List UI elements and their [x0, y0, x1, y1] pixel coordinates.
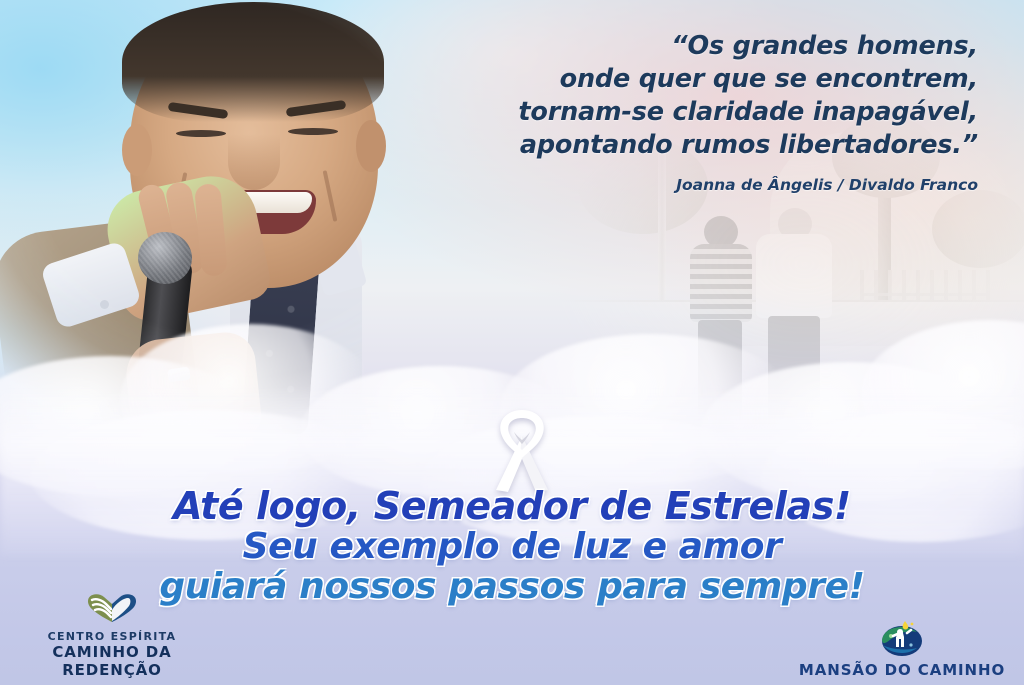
portrait-nose	[228, 134, 280, 190]
background-palm-crown	[932, 190, 1024, 268]
quote-line-2: onde quer que se encontrem,	[418, 63, 978, 96]
tribute-message-line-2: Seu exemplo de luz e amor	[0, 527, 1024, 567]
logo-left-line-2: CAMINHO DA REDENÇÃO	[12, 643, 212, 679]
logo-left-line-1: CENTRO ESPÍRITA	[12, 630, 212, 643]
tribute-message: Até logo, Semeador de Estrelas! Seu exem…	[0, 486, 1024, 607]
quote-line-1: “Os grandes homens,	[418, 30, 978, 63]
portrait-ear-right	[356, 120, 386, 172]
portrait-eye-left	[176, 130, 226, 137]
memorial-poster: “Os grandes homens, onde quer que se enc…	[0, 0, 1024, 685]
portrait-eye-right	[288, 128, 338, 135]
globe-figure-flame-logo-icon	[877, 619, 927, 659]
logo-mansao-do-caminho: MANSÃO DO CAMINHO	[792, 619, 1012, 679]
tribute-message-line-1: Até logo, Semeador de Estrelas!	[0, 486, 1024, 527]
portrait-cuff-button	[100, 300, 109, 309]
quote-line-3: tornam-se claridade inapagável,	[418, 96, 978, 129]
quote-block: “Os grandes homens, onde quer que se enc…	[418, 30, 978, 194]
quote-author: Joanna de Ângelis / Divaldo Franco	[418, 176, 978, 194]
logo-right-line-1: MANSÃO DO CAMINHO	[792, 661, 1012, 679]
portrait-hand-holding-microphone	[123, 329, 263, 446]
heart-hands-logo-icon	[84, 592, 140, 628]
quote-line-4: apontando rumos libertadores.”	[418, 129, 978, 162]
background-person-striped-shirt	[688, 216, 754, 416]
background-person-white-shirt	[756, 208, 834, 418]
logo-centro-espirita-caminho-da-redencao: CENTRO ESPÍRITA CAMINHO DA REDENÇÃO	[12, 592, 212, 679]
portrait-ear-left	[122, 124, 152, 176]
white-mourning-ribbon-icon	[484, 406, 560, 492]
